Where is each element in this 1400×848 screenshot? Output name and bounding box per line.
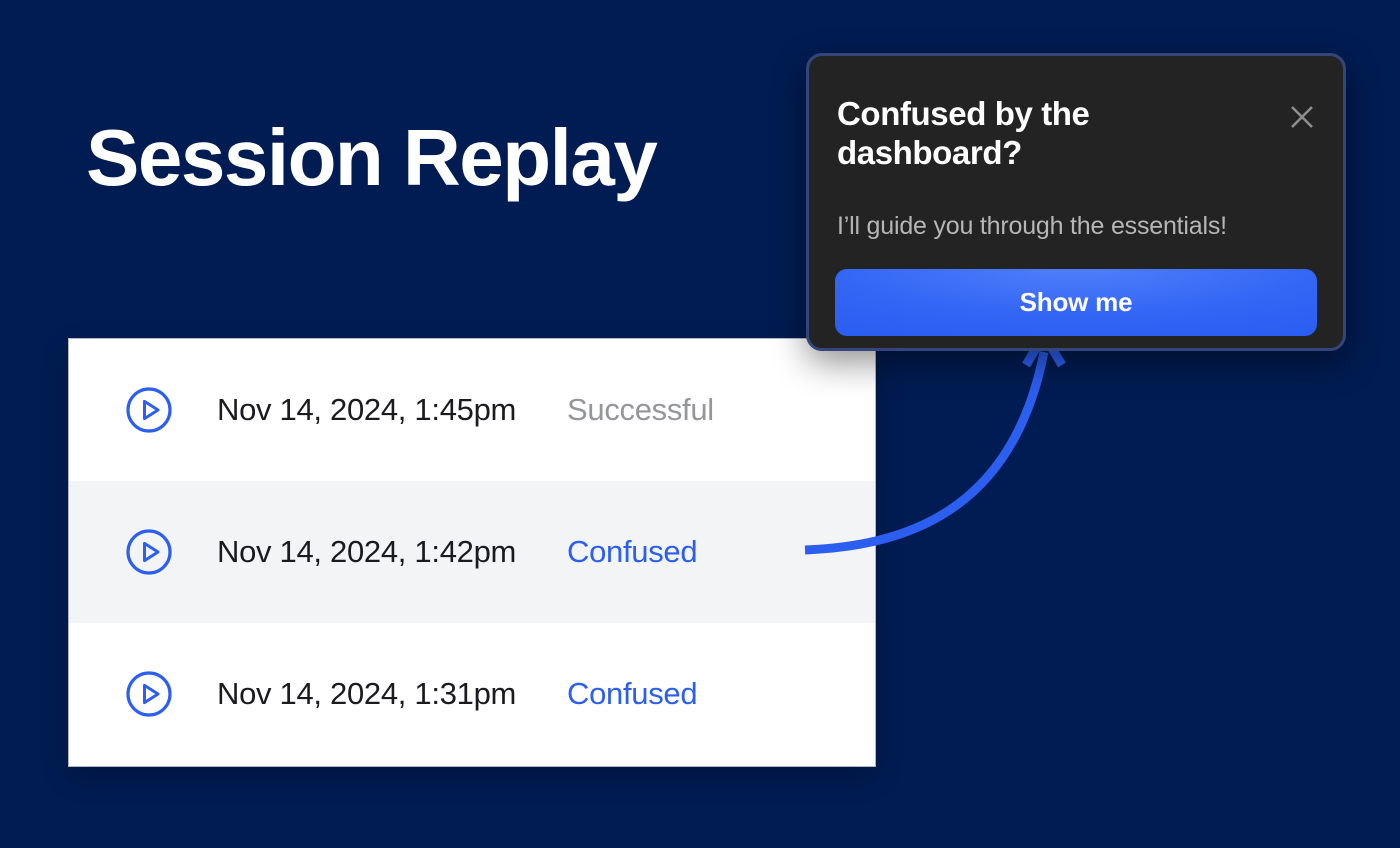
session-replay-list: Nov 14, 2024, 1:45pm Successful Nov 14, … — [69, 339, 875, 766]
tooltip-title: Confused by the dashboard? — [837, 95, 1227, 172]
guide-tooltip: Confused by the dashboard? I’ll guide yo… — [806, 53, 1346, 351]
play-circle-icon[interactable] — [125, 528, 173, 576]
status-badge[interactable]: Confused — [567, 534, 697, 570]
table-row[interactable]: Nov 14, 2024, 1:42pm Confused — [69, 481, 875, 623]
status-badge[interactable]: Confused — [567, 676, 697, 712]
session-timestamp: Nov 14, 2024, 1:45pm — [217, 392, 567, 428]
play-circle-icon[interactable] — [125, 386, 173, 434]
show-me-button[interactable]: Show me — [835, 269, 1317, 336]
page-title: Session Replay — [86, 116, 656, 200]
session-timestamp: Nov 14, 2024, 1:31pm — [217, 676, 567, 712]
table-row[interactable]: Nov 14, 2024, 1:31pm Confused — [69, 623, 875, 765]
play-circle-icon[interactable] — [125, 670, 173, 718]
tooltip-subtitle: I’ll guide you through the essentials! — [837, 212, 1227, 241]
table-row[interactable]: Nov 14, 2024, 1:45pm Successful — [69, 339, 875, 481]
close-icon[interactable] — [1285, 100, 1319, 134]
session-timestamp: Nov 14, 2024, 1:42pm — [217, 534, 567, 570]
status-badge: Successful — [567, 392, 714, 428]
